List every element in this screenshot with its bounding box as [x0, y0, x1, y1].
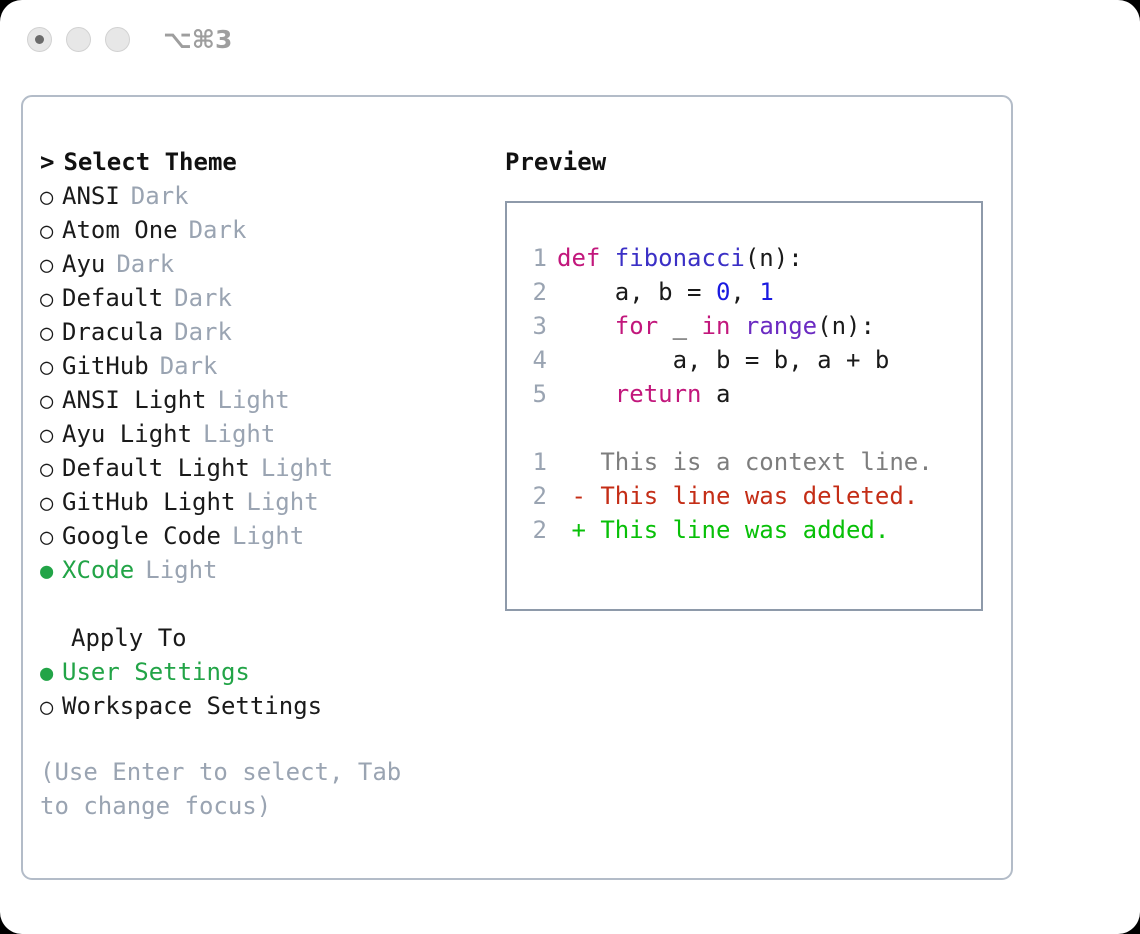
theme-name: Default	[62, 284, 163, 312]
preview-box: 1def fibonacci(n):2 a, b = 0, 13 for _ i…	[505, 201, 983, 611]
radio-unselected-icon[interactable]: ○	[40, 181, 62, 215]
code-token: def	[557, 244, 615, 272]
line-number: 2	[521, 513, 547, 547]
code-token	[557, 380, 615, 408]
code-line: 5 return a	[521, 377, 981, 411]
radio-unselected-icon[interactable]: ○	[40, 283, 62, 317]
code-line: 1def fibonacci(n):	[521, 241, 981, 275]
radio-unselected-icon[interactable]: ○	[40, 419, 62, 453]
line-number: 4	[521, 343, 547, 377]
theme-list-item[interactable]: ○Ayu LightLight	[40, 417, 493, 451]
radio-unselected-icon[interactable]: ○	[40, 351, 62, 385]
radio-unselected-icon[interactable]: ○	[40, 249, 62, 283]
code-token: for	[615, 312, 658, 340]
apply-to-label: Workspace Settings	[62, 692, 322, 720]
caret-icon: >	[40, 148, 54, 176]
radio-unselected-icon[interactable]: ○	[40, 317, 62, 351]
diff-text: - This line was deleted.	[557, 482, 918, 510]
theme-variant-tag: Dark	[174, 318, 232, 346]
radio-unselected-icon[interactable]: ○	[40, 385, 62, 419]
theme-variant-tag: Dark	[116, 250, 174, 278]
theme-list-item[interactable]: ○GitHubDark	[40, 349, 493, 383]
code-token	[557, 312, 615, 340]
code-token: a	[702, 380, 731, 408]
line-number: 2	[521, 275, 547, 309]
code-token: range	[745, 312, 817, 340]
theme-variant-tag: Light	[232, 522, 304, 550]
code-token: a, b =	[557, 278, 716, 306]
theme-variant-tag: Light	[203, 420, 275, 448]
theme-list-item[interactable]: ○DefaultDark	[40, 281, 493, 315]
theme-name: ANSI Light	[62, 386, 207, 414]
radio-selected-icon[interactable]: ●	[40, 555, 62, 589]
diff-text: + This line was added.	[557, 516, 889, 544]
theme-list: ○ANSIDark○Atom OneDark○AyuDark○DefaultDa…	[40, 179, 493, 587]
code-token: 1	[759, 278, 773, 306]
theme-list-item[interactable]: ●XCodeLight	[40, 553, 493, 587]
theme-picker-pane: >Select Theme ○ANSIDark○Atom OneDark○Ayu…	[23, 97, 493, 878]
theme-name: GitHub Light	[62, 488, 235, 516]
hint-text: (Use Enter to select, Tab to change focu…	[40, 755, 440, 823]
apply-to-heading: Apply To	[40, 621, 493, 655]
radio-unselected-icon[interactable]: ○	[40, 215, 62, 249]
keyboard-shortcut-label: ⌥⌘3	[163, 25, 232, 54]
radio-unselected-icon[interactable]: ○	[40, 691, 62, 725]
apply-to-option[interactable]: ○Workspace Settings	[40, 689, 493, 723]
theme-list-item[interactable]: ○Google CodeLight	[40, 519, 493, 553]
theme-list-item[interactable]: ○ANSI LightLight	[40, 383, 493, 417]
diff-line: 2 - This line was deleted.	[521, 479, 981, 513]
window-button-3[interactable]	[105, 27, 130, 52]
apply-to-option[interactable]: ●User Settings	[40, 655, 493, 689]
theme-list-item[interactable]: ○GitHub LightLight	[40, 485, 493, 519]
select-theme-heading-label: Select Theme	[63, 148, 236, 176]
line-number: 1	[521, 241, 547, 275]
theme-variant-tag: Dark	[160, 352, 218, 380]
code-diff-spacer	[521, 411, 981, 445]
code-token: return	[615, 380, 702, 408]
theme-variant-tag: Light	[261, 454, 333, 482]
diff-sample: 1 This is a context line.2 - This line w…	[521, 445, 981, 547]
diff-text: This is a context line.	[557, 448, 933, 476]
code-token	[730, 312, 744, 340]
theme-list-item[interactable]: ○DraculaDark	[40, 315, 493, 349]
theme-variant-tag: Light	[246, 488, 318, 516]
theme-variant-tag: Light	[145, 556, 217, 584]
radio-unselected-icon[interactable]: ○	[40, 521, 62, 555]
title-bar: ⌥⌘3	[0, 0, 1140, 78]
code-token: (n):	[745, 244, 803, 272]
diff-line: 1 This is a context line.	[521, 445, 981, 479]
theme-variant-tag: Dark	[174, 284, 232, 312]
theme-name: ANSI	[62, 182, 120, 210]
line-number: 2	[521, 479, 547, 513]
theme-name: Atom One	[62, 216, 178, 244]
select-theme-heading: >Select Theme	[40, 145, 493, 179]
radio-unselected-icon[interactable]: ○	[40, 487, 62, 521]
theme-name: Google Code	[62, 522, 221, 550]
line-number: 5	[521, 377, 547, 411]
theme-name: XCode	[62, 556, 134, 584]
apply-to-label: User Settings	[62, 658, 250, 686]
theme-variant-tag: Dark	[189, 216, 247, 244]
radio-selected-icon[interactable]: ●	[40, 657, 62, 691]
diff-line: 2 + This line was added.	[521, 513, 981, 547]
list-spacer	[40, 587, 493, 621]
window-button-2[interactable]	[66, 27, 91, 52]
code-line: 4 a, b = b, a + b	[521, 343, 981, 377]
theme-variant-tag: Light	[218, 386, 290, 414]
code-token: in	[702, 312, 731, 340]
line-number: 3	[521, 309, 547, 343]
window-controls	[27, 27, 130, 52]
code-line: 2 a, b = 0, 1	[521, 275, 981, 309]
theme-name: Ayu	[62, 250, 105, 278]
code-sample: 1def fibonacci(n):2 a, b = 0, 13 for _ i…	[521, 241, 981, 411]
theme-list-item[interactable]: ○ANSIDark	[40, 179, 493, 213]
line-number: 1	[521, 445, 547, 479]
code-token: a, b = b, a + b	[557, 346, 889, 374]
code-token: 0	[716, 278, 730, 306]
app-window: ⌥⌘3 >Select Theme ○ANSIDark○Atom OneDark…	[0, 0, 1140, 934]
code-line: 3 for _ in range(n):	[521, 309, 981, 343]
theme-name: GitHub	[62, 352, 149, 380]
theme-list-item[interactable]: ○AyuDark	[40, 247, 493, 281]
theme-name: Dracula	[62, 318, 163, 346]
window-button-1[interactable]	[27, 27, 52, 52]
preview-heading: Preview	[505, 145, 1011, 179]
theme-name: Ayu Light	[62, 420, 192, 448]
preview-pane: Preview 1def fibonacci(n):2 a, b = 0, 13…	[493, 97, 1011, 878]
apply-to-options: ●User Settings○Workspace Settings	[40, 655, 493, 723]
window-button-1-indicator	[35, 35, 44, 44]
theme-variant-tag: Dark	[131, 182, 189, 210]
main-panel: >Select Theme ○ANSIDark○Atom OneDark○Ayu…	[21, 95, 1013, 880]
radio-unselected-icon[interactable]: ○	[40, 453, 62, 487]
code-token: _	[658, 312, 701, 340]
code-token: fibonacci	[615, 244, 745, 272]
theme-list-item[interactable]: ○Default LightLight	[40, 451, 493, 485]
theme-list-item[interactable]: ○Atom OneDark	[40, 213, 493, 247]
theme-name: Default Light	[62, 454, 250, 482]
code-token: ,	[730, 278, 759, 306]
code-token: (n):	[817, 312, 875, 340]
